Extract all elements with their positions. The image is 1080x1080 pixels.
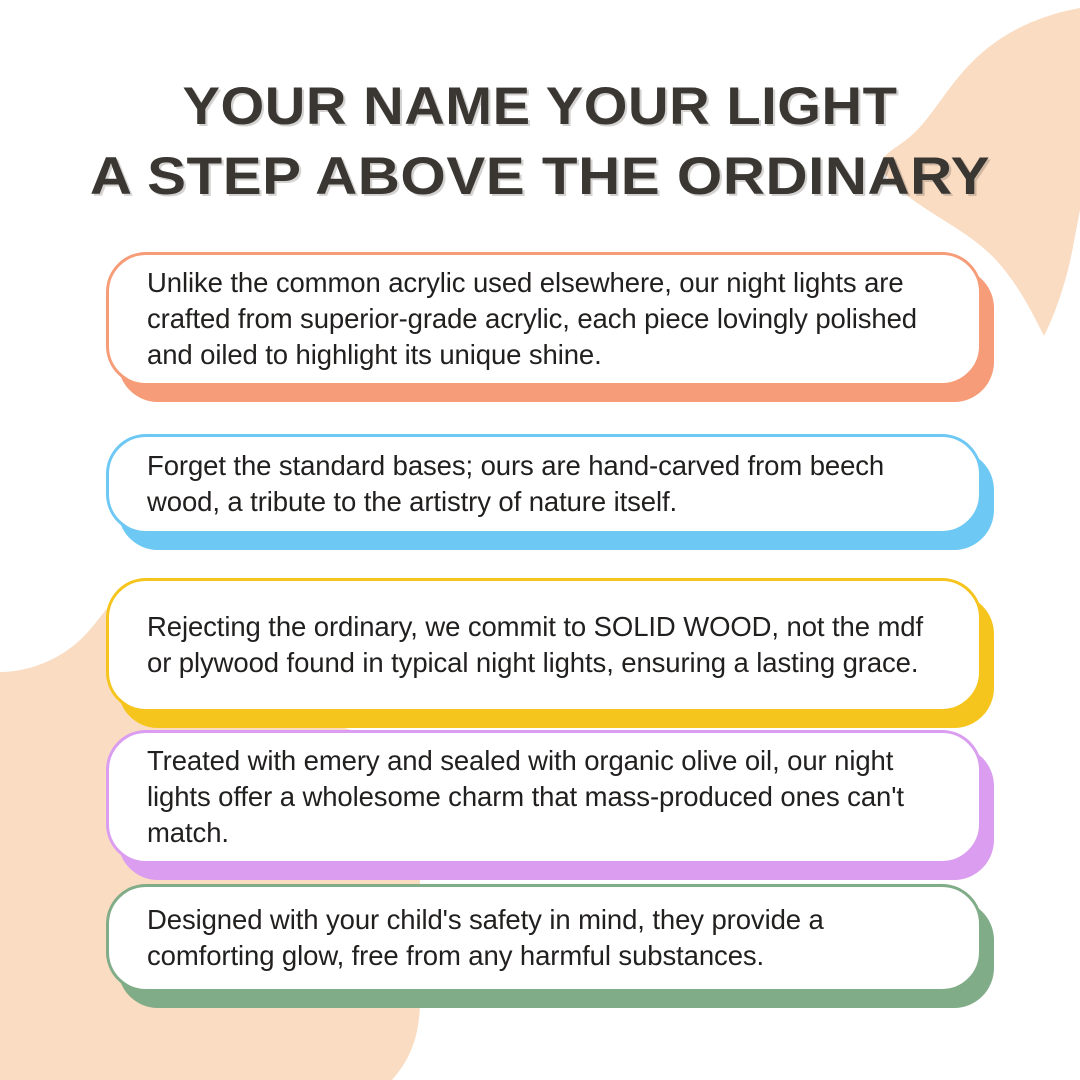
card-face: Treated with emery and sealed with organ… [106,730,982,864]
feature-card-solid-wood: Rejecting the ordinary, we commit to SOL… [106,578,982,712]
card-text: Forget the standard bases; ours are hand… [109,448,979,520]
card-text: Treated with emery and sealed with organ… [109,743,979,851]
card-face: Rejecting the ordinary, we commit to SOL… [106,578,982,712]
card-text: Unlike the common acrylic used elsewhere… [109,265,979,373]
card-text: Rejecting the ordinary, we commit to SOL… [109,609,979,681]
feature-card-child-safety: Designed with your child's safety in min… [106,884,982,992]
feature-card-beech-wood-base: Forget the standard bases; ours are hand… [106,434,982,534]
headline-line-2: A STEP ABOVE THE ORDINARY [0,146,1080,208]
headline-line-1: YOUR NAME YOUR LIGHT [0,76,1080,138]
card-face: Forget the standard bases; ours are hand… [106,434,982,534]
poster-canvas: YOUR NAME YOUR LIGHT A STEP ABOVE THE OR… [0,0,1080,1080]
card-text: Designed with your child's safety in min… [109,902,979,974]
feature-card-acrylic-quality: Unlike the common acrylic used elsewhere… [106,252,982,386]
feature-card-organic-olive-oil: Treated with emery and sealed with organ… [106,730,982,864]
headline-block: YOUR NAME YOUR LIGHT A STEP ABOVE THE OR… [0,76,1080,208]
card-face: Unlike the common acrylic used elsewhere… [106,252,982,386]
card-face: Designed with your child's safety in min… [106,884,982,992]
